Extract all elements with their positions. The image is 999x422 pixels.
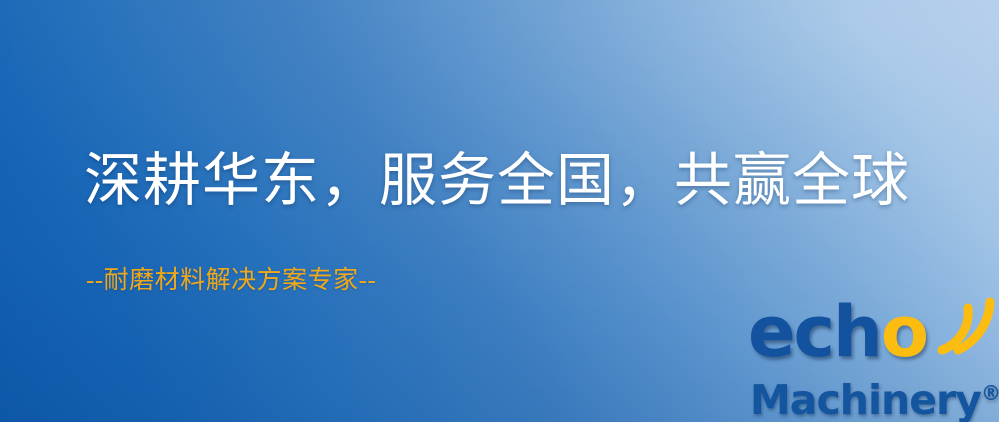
echo-wave-icon [930,294,998,356]
echo-machinery-logo[interactable]: echo Machinery® [748,296,998,422]
logo-text-o: o [881,291,927,373]
logo-text-ech: ech [748,291,881,373]
banner-subtitle: --耐磨材料解决方案专家-- [86,266,376,296]
logo-wordmark: echo [748,296,927,368]
banner-headline: 深耕华东，服务全国，共赢全球 [84,150,910,211]
logo-tagline-text: Machinery [750,376,981,422]
promo-banner: 深耕华东，服务全国，共赢全球 --耐磨材料解决方案专家-- echo Machi… [0,0,999,422]
logo-tagline: Machinery® [750,370,999,422]
registered-trademark-icon: ® [981,381,999,405]
